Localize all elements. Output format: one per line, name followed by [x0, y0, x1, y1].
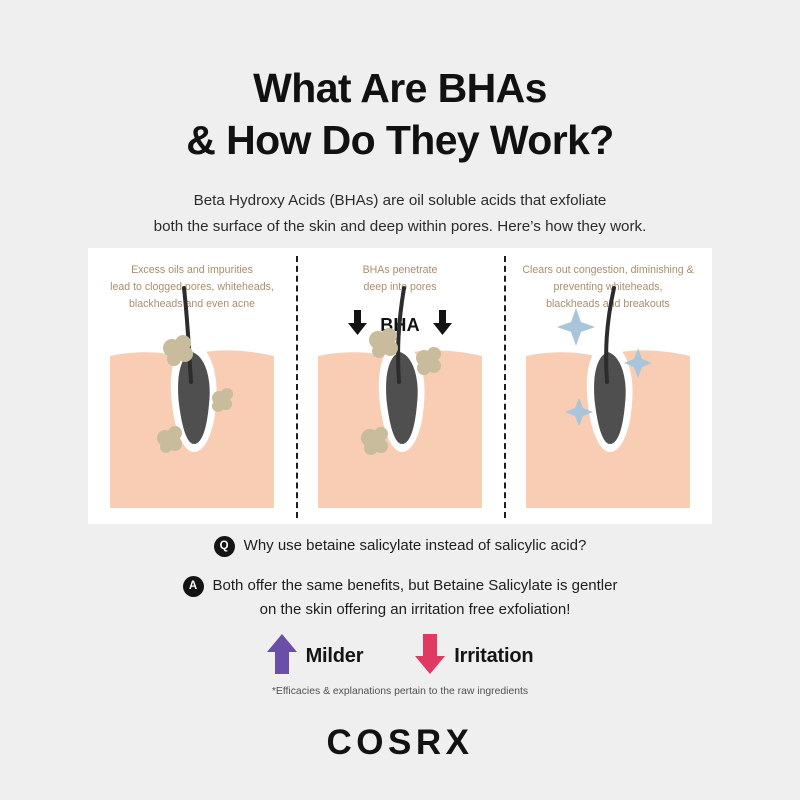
effect-irritation: Irritation: [415, 634, 533, 679]
answer-badge: A: [183, 576, 204, 597]
title-line-1: What Are BHAs: [0, 62, 800, 114]
effects-row: Milder Irritation: [0, 634, 800, 679]
footnote: *Efficacies & explanations pertain to th…: [0, 686, 800, 697]
qa-question-row: Q Why use betaine salicylate instead of …: [0, 534, 800, 558]
effect-label-milder: Milder: [306, 645, 364, 668]
page-subtitle: Beta Hydroxy Acids (BHAs) are oil solubl…: [0, 188, 800, 240]
skin-cross-section-clogged: [88, 286, 296, 516]
qa-answer-text: Both offer the same benefits, but Betain…: [213, 574, 618, 622]
skin-cross-section-penetrating: [296, 286, 504, 516]
panel-column-bha-penetrating: BHAs penetrate deep into pores BHA: [296, 248, 504, 524]
effect-milder: Milder: [267, 634, 364, 679]
panel-divider-1: [296, 256, 298, 518]
effect-label-irritation: Irritation: [454, 645, 533, 668]
arrow-up-icon: [267, 634, 297, 679]
title-line-2: & How Do They Work?: [0, 114, 800, 166]
panel-divider-2: [504, 256, 506, 518]
skin-cross-section-clear: [504, 286, 712, 516]
brand-logo: COSRX: [0, 723, 800, 763]
panel-column-clear-pore: Clears out congestion, diminishing & pre…: [504, 248, 712, 524]
header: What Are BHAs & How Do They Work? Beta H…: [0, 62, 800, 240]
qa-question-text: Why use betaine salicylate instead of sa…: [244, 534, 587, 558]
infographic-page: What Are BHAs & How Do They Work? Beta H…: [0, 0, 800, 800]
qa-answer-row: A Both offer the same benefits, but Beta…: [0, 574, 800, 622]
subtitle-line-1: Beta Hydroxy Acids (BHAs) are oil solubl…: [0, 188, 800, 214]
sparkle-icon: [557, 308, 595, 346]
panel-column-clogged-pore: Excess oils and impurities lead to clogg…: [88, 248, 296, 524]
subtitle-line-2: both the surface of the skin and deep wi…: [0, 214, 800, 240]
page-title: What Are BHAs & How Do They Work?: [0, 62, 800, 167]
arrow-down-icon: [415, 634, 445, 679]
qa-section: Q Why use betaine salicylate instead of …: [0, 534, 800, 622]
illustration-panel: Excess oils and impurities lead to clogg…: [88, 248, 712, 524]
question-badge: Q: [214, 536, 235, 557]
